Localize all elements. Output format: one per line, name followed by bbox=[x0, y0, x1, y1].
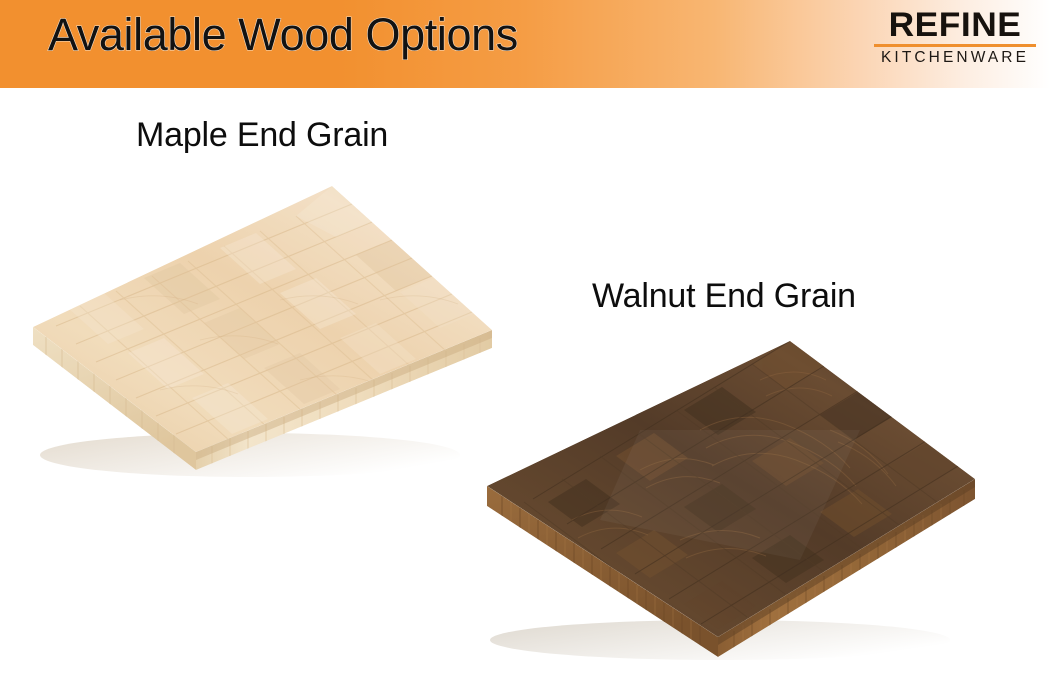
walnut-cutting-board bbox=[0, 0, 1050, 700]
product-options-poster: Available Wood Options REFINE KITCHENWAR… bbox=[0, 0, 1050, 700]
walnut-board-illustration bbox=[0, 0, 1050, 700]
